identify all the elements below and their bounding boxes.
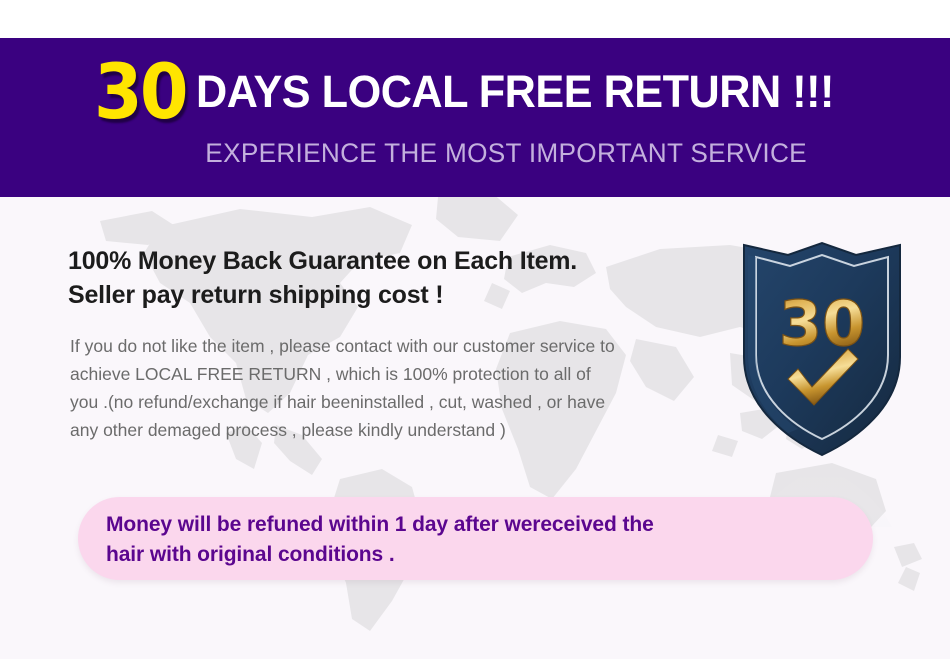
main-paragraph: If you do not like the item , please con… bbox=[70, 332, 730, 444]
main-paragraph-line-2: achieve LOCAL FREE RETURN , which is 100… bbox=[70, 360, 730, 388]
main-heading: 100% Money Back Guarantee on Each Item. … bbox=[68, 244, 728, 312]
header-subheadline: EXPERIENCE THE MOST IMPORTANT SERVICE bbox=[205, 138, 807, 168]
main-paragraph-line-3: you .(no refund/exchange if hair beenins… bbox=[70, 388, 730, 416]
header-inner: 30 DAYS LOCAL FREE RETURN !!! EXPERIENCE… bbox=[0, 38, 950, 197]
main-paragraph-line-1: If you do not like the item , please con… bbox=[70, 332, 730, 360]
body-area: 100% Money Back Guarantee on Each Item. … bbox=[0, 197, 950, 659]
header-subheadline-wrap: EXPERIENCE THE MOST IMPORTANT SERVICE bbox=[0, 138, 950, 168]
top-white-strip bbox=[0, 0, 950, 38]
main-heading-line-2: Seller pay return shipping cost ! bbox=[68, 278, 728, 312]
header-band: 30 DAYS LOCAL FREE RETURN !!! EXPERIENCE… bbox=[0, 38, 950, 197]
refund-callout-line-1: Money will be refuned within 1 day after… bbox=[106, 510, 866, 540]
guarantee-shield-badge: 30 bbox=[736, 237, 916, 527]
header-badge-number: 30 bbox=[94, 54, 186, 130]
refund-callout-text: Money will be refuned within 1 day after… bbox=[106, 510, 866, 570]
main-paragraph-line-4: any other demaged process , please kindl… bbox=[70, 416, 730, 444]
main-heading-line-1: 100% Money Back Guarantee on Each Item. bbox=[68, 244, 728, 278]
refund-callout-box: Money will be refuned within 1 day after… bbox=[78, 497, 873, 580]
header-headline: DAYS LOCAL FREE RETURN !!! bbox=[196, 67, 834, 117]
promo-banner: 30 DAYS LOCAL FREE RETURN !!! EXPERIENCE… bbox=[0, 0, 950, 659]
shield-number: 30 bbox=[779, 287, 865, 360]
headline-row: 30 DAYS LOCAL FREE RETURN !!! bbox=[0, 54, 950, 130]
shield-icon: 30 bbox=[736, 237, 916, 527]
refund-callout-line-2: hair with original conditions . bbox=[106, 540, 866, 570]
